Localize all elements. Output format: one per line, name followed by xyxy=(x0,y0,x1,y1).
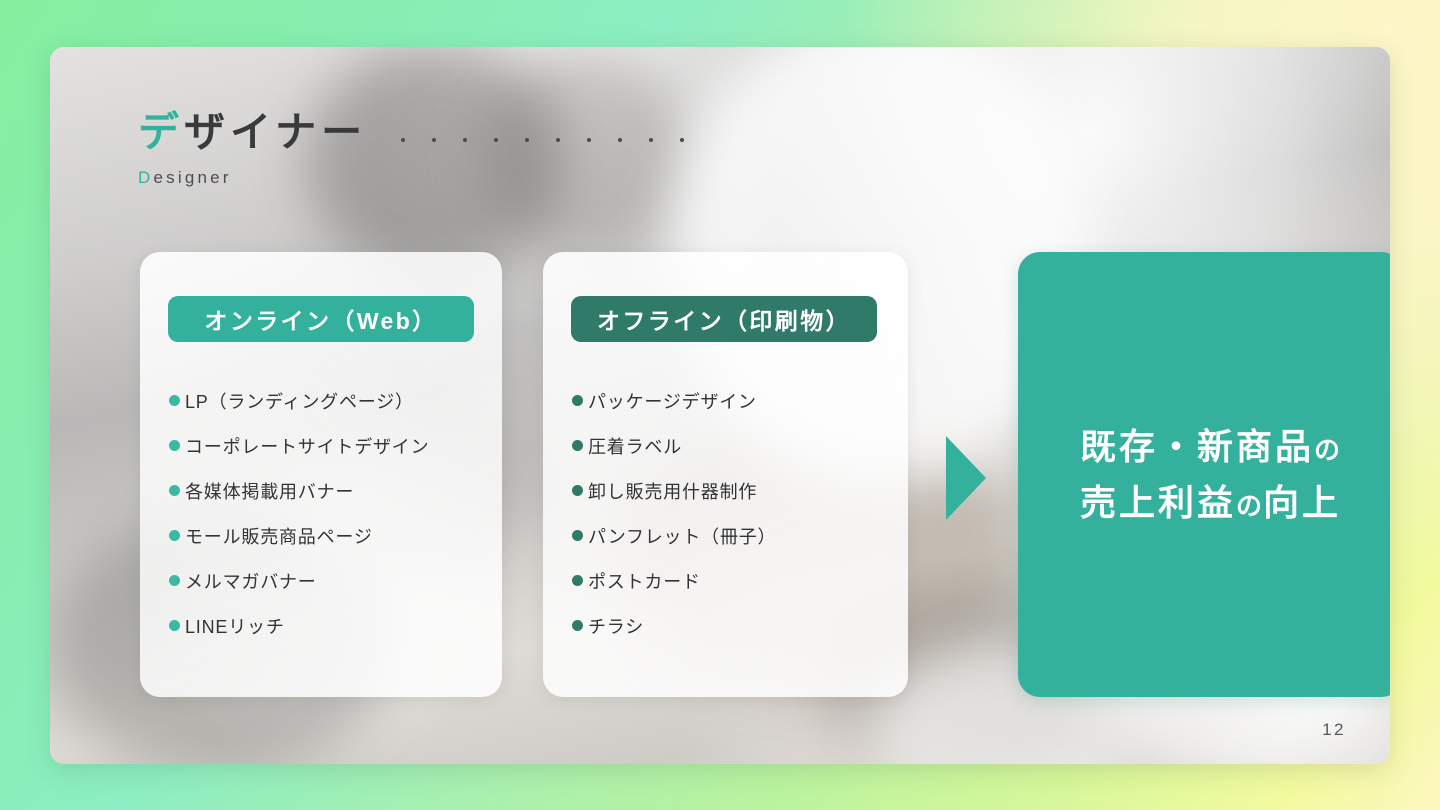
list-item-label: LINEリッチ xyxy=(185,613,285,639)
page-title: デザイナー xyxy=(138,109,367,156)
bullet-dot-icon xyxy=(169,575,180,586)
bullet-dot-icon xyxy=(572,530,583,541)
list-item-label: パッケージデザイン xyxy=(588,388,757,414)
bullet-dot-icon xyxy=(572,485,583,496)
slide-panel: デザイナー Designer オンライン（Web） xyxy=(50,47,1390,764)
bullet-dot-icon xyxy=(169,440,180,451)
list-item: LP（ランディングページ） xyxy=(169,378,490,423)
bullet-dot-icon xyxy=(169,395,180,406)
card-offline: オフライン（印刷物） パッケージデザイン 圧着ラベル 卸し販売用什器制作 パンフ… xyxy=(543,252,908,697)
list-item-label: LP（ランディングページ） xyxy=(185,388,414,414)
arrow-right-icon xyxy=(946,436,986,520)
title-row: デザイナー xyxy=(138,109,711,156)
result-line-1: 既存・新商品の xyxy=(1080,419,1341,475)
result-line-2-main-b: 向上 xyxy=(1263,482,1341,523)
list-item: 圧着ラベル xyxy=(572,423,896,468)
card-online-list: LP（ランディングページ） コーポレートサイトデザイン 各媒体掲載用バナー モー… xyxy=(169,378,490,648)
list-item: チラシ xyxy=(572,603,896,648)
title-dot xyxy=(618,138,622,142)
list-item-label: 各媒体掲載用バナー xyxy=(185,478,354,504)
list-item-label: ポストカード xyxy=(588,568,701,594)
bullet-dot-icon xyxy=(572,395,583,406)
list-item-label: チラシ xyxy=(588,613,644,639)
list-item: 各媒体掲載用バナー xyxy=(169,468,490,513)
page-subtitle-accent: D xyxy=(138,168,153,187)
list-item-label: 卸し販売用什器制作 xyxy=(588,478,757,504)
title-dot xyxy=(649,138,653,142)
list-item-label: パンフレット（冊子） xyxy=(588,523,776,549)
list-item: コーポレートサイトデザイン xyxy=(169,423,490,468)
list-item-label: モール販売商品ページ xyxy=(185,523,373,549)
list-item-label: コーポレートサイトデザイン xyxy=(185,433,429,459)
page-subtitle-rest: esigner xyxy=(153,168,231,187)
title-dot xyxy=(587,138,591,142)
page-subtitle: Designer xyxy=(138,168,711,188)
bullet-dot-icon xyxy=(169,485,180,496)
list-item: モール販売商品ページ xyxy=(169,513,490,558)
page-title-rest: ザイナー xyxy=(184,109,367,155)
title-dot xyxy=(494,138,498,142)
page-title-accent: デ xyxy=(138,109,184,155)
list-item-label: 圧着ラベル xyxy=(588,433,682,459)
result-panel: 既存・新商品の 売上利益の向上 xyxy=(1018,252,1390,697)
title-dot xyxy=(401,138,405,142)
page-number: 12 xyxy=(1322,720,1346,740)
title-dot xyxy=(432,138,436,142)
slide-header: デザイナー Designer xyxy=(138,109,711,188)
result-text: 既存・新商品の 売上利益の向上 xyxy=(1080,419,1341,531)
bullet-dot-icon xyxy=(169,530,180,541)
title-dotted-rule xyxy=(401,138,711,142)
card-online-heading: オンライン（Web） xyxy=(168,296,474,342)
list-item: パンフレット（冊子） xyxy=(572,513,896,558)
result-line-2-main-a: 売上利益 xyxy=(1080,482,1236,523)
list-item: LINEリッチ xyxy=(169,603,490,648)
result-line-1-main: 既存・新商品 xyxy=(1080,426,1314,467)
card-offline-heading: オフライン（印刷物） xyxy=(571,296,877,342)
bullet-dot-icon xyxy=(572,440,583,451)
list-item: ポストカード xyxy=(572,558,896,603)
title-dot xyxy=(463,138,467,142)
title-dot xyxy=(556,138,560,142)
title-dot xyxy=(680,138,684,142)
bullet-dot-icon xyxy=(169,620,180,631)
card-offline-list: パッケージデザイン 圧着ラベル 卸し販売用什器制作 パンフレット（冊子） ポスト… xyxy=(572,378,896,648)
title-dot xyxy=(525,138,529,142)
list-item: メルマガバナー xyxy=(169,558,490,603)
result-line-2: 売上利益の向上 xyxy=(1080,475,1341,531)
result-line-2-small: の xyxy=(1236,491,1263,521)
bullet-dot-icon xyxy=(572,620,583,631)
result-line-1-small: の xyxy=(1314,435,1341,465)
card-online: オンライン（Web） LP（ランディングページ） コーポレートサイトデザイン 各… xyxy=(140,252,502,697)
list-item: パッケージデザイン xyxy=(572,378,896,423)
list-item-label: メルマガバナー xyxy=(185,568,317,594)
slide-canvas: デザイナー Designer オンライン（Web） xyxy=(0,0,1440,810)
list-item: 卸し販売用什器制作 xyxy=(572,468,896,513)
bullet-dot-icon xyxy=(572,575,583,586)
